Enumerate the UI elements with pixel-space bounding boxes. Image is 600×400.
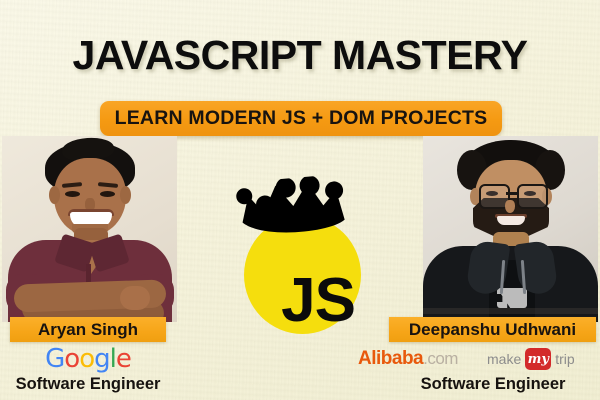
hand <box>120 286 150 310</box>
nameplate-right: Deepanshu Udhwani <box>389 317 596 342</box>
ear-left <box>49 186 60 204</box>
eye-left <box>65 191 80 197</box>
alibaba-logo-primary: Alibaba <box>358 348 423 370</box>
smile-teeth <box>497 216 525 225</box>
google-letter-o1: o <box>64 344 79 374</box>
eyeglasses-lens-right <box>517 184 548 209</box>
ear-right <box>120 186 131 204</box>
google-letter-e: e <box>116 344 131 374</box>
js-logo-text: JS <box>244 216 361 334</box>
nameplate-left: Aryan Singh <box>10 317 166 342</box>
google-letter-g1: G <box>45 344 64 374</box>
subtitle-banner: LEARN MODERN JS + DOM PROJECTS <box>100 101 502 136</box>
alibaba-logo-suffix: .com <box>423 348 458 370</box>
subtitle-banner-text: LEARN MODERN JS + DOM PROJECTS <box>115 107 488 130</box>
makemytrip-part-trip: trip <box>555 351 574 367</box>
js-logo: JS <box>236 178 368 338</box>
youtube-thumbnail: JAVASCRIPT MASTERY LEARN MODERN JS + DOM… <box>0 0 600 400</box>
makemytrip-badge-my: my <box>525 348 551 370</box>
photo-right-person <box>423 136 598 322</box>
makemytrip-part-make: make <box>487 351 521 367</box>
alibaba-logo: Alibaba.com <box>358 348 458 370</box>
google-letter-g2: g <box>94 344 110 374</box>
nose <box>505 200 515 213</box>
makemytrip-logo: make my trip <box>487 347 575 371</box>
person-name-right: Deepanshu Udhwani <box>409 320 576 340</box>
desk-edge <box>423 308 598 314</box>
person-role-left: Software Engineer <box>0 375 176 394</box>
photo-left-person <box>2 136 177 322</box>
eye-right <box>100 191 115 197</box>
page-title: JAVASCRIPT MASTERY <box>0 30 600 80</box>
person-name-left: Aryan Singh <box>38 320 138 340</box>
eyeglasses-bridge <box>506 192 517 195</box>
person-role-right: Software Engineer <box>398 375 588 394</box>
google-letter-o2: o <box>79 344 94 374</box>
google-logo: Google <box>0 345 176 373</box>
